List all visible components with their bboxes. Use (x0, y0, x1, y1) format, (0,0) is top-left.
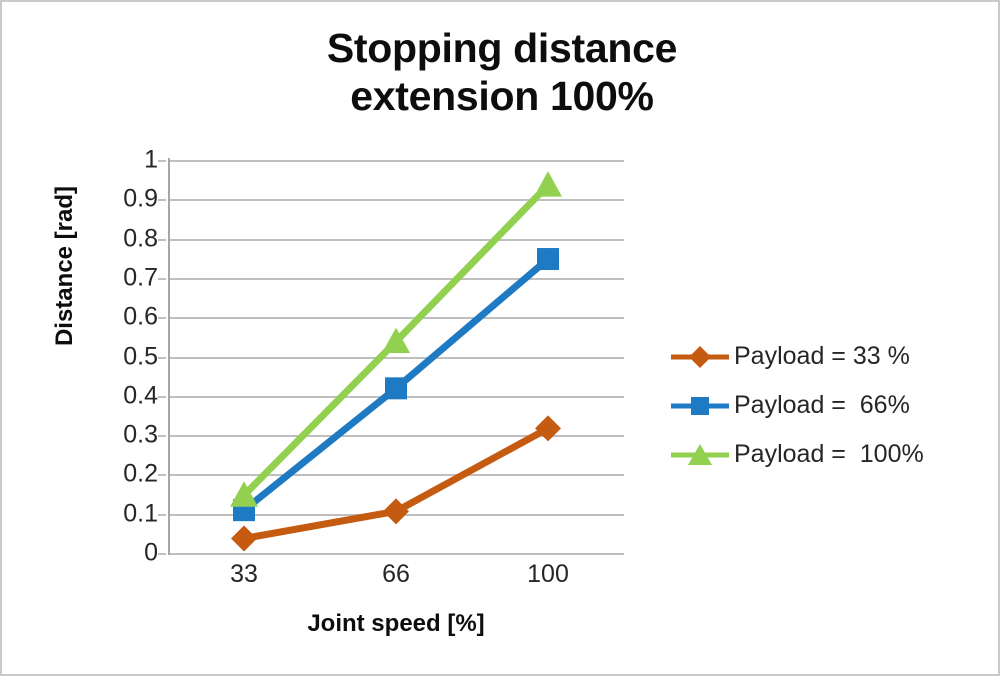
x-axis-tick-label: 66 (336, 562, 456, 587)
y-axis-tick-label: 0.3 (86, 423, 158, 448)
chart-legend: Payload = 33 %Payload = 66%Payload = 100… (670, 332, 990, 479)
legend-item-label: Payload = 66% (730, 393, 910, 418)
gridline (168, 474, 624, 476)
legend-item[interactable]: Payload = 33 % (670, 332, 990, 381)
y-axis-tick-label: 0.8 (86, 226, 158, 251)
y-axis-tick-label: 0 (86, 541, 158, 566)
y-axis-tick-label: 0.4 (86, 383, 158, 408)
gridline (168, 396, 624, 398)
y-axis-tick (158, 514, 166, 516)
gridline (168, 553, 624, 555)
x-axis-tick-labels: 3366100 (168, 562, 624, 596)
plot-area (168, 160, 624, 553)
gridline (168, 160, 624, 162)
y-axis-tick-label: 1 (86, 148, 158, 173)
gridline (168, 357, 624, 359)
y-axis-tick (158, 435, 166, 437)
y-axis-tick (158, 396, 166, 398)
y-axis-tick (158, 474, 166, 476)
legend-item-label: Payload = 100% (730, 442, 924, 467)
legend-item[interactable]: Payload = 66% (670, 381, 990, 430)
y-axis-tick-label: 0.2 (86, 462, 158, 487)
chart-container: Stopping distance extension 100% 10.90.8… (0, 0, 1000, 676)
y-axis-tick-label: 0.5 (86, 344, 158, 369)
legend-marker-triangle-icon (670, 441, 730, 469)
y-axis-tick-label: 0.7 (86, 265, 158, 290)
gridline (168, 199, 624, 201)
y-axis-line (168, 158, 170, 555)
legend-marker-diamond-icon (670, 343, 730, 371)
y-axis-tick-label: 0.1 (86, 501, 158, 526)
y-axis-tick-labels: 10.90.80.70.60.50.40.30.20.10 (78, 160, 158, 553)
y-axis-tick-label: 0.9 (86, 187, 158, 212)
legend-item-label: Payload = 33 % (730, 344, 910, 369)
y-axis-title: Distance [rad] (51, 156, 79, 376)
gridline (168, 278, 624, 280)
y-axis-tick (158, 553, 166, 555)
y-axis-tick (158, 317, 166, 319)
x-axis-tick-label: 33 (184, 562, 304, 587)
x-axis-tick-label: 100 (488, 562, 608, 587)
gridline (168, 514, 624, 516)
y-axis-tick-label: 0.6 (86, 305, 158, 330)
y-axis-tick (158, 278, 166, 280)
y-axis-tick (158, 357, 166, 359)
y-axis-tick (158, 199, 166, 201)
gridline (168, 239, 624, 241)
legend-item[interactable]: Payload = 100% (670, 430, 990, 479)
y-axis-tick (158, 160, 166, 162)
chart-title: Stopping distance extension 100% (2, 24, 1000, 121)
gridline (168, 317, 624, 319)
y-axis-tick (158, 239, 166, 241)
legend-marker-square-icon (670, 392, 730, 420)
x-axis-title: Joint speed [%] (168, 610, 624, 638)
gridline (168, 435, 624, 437)
